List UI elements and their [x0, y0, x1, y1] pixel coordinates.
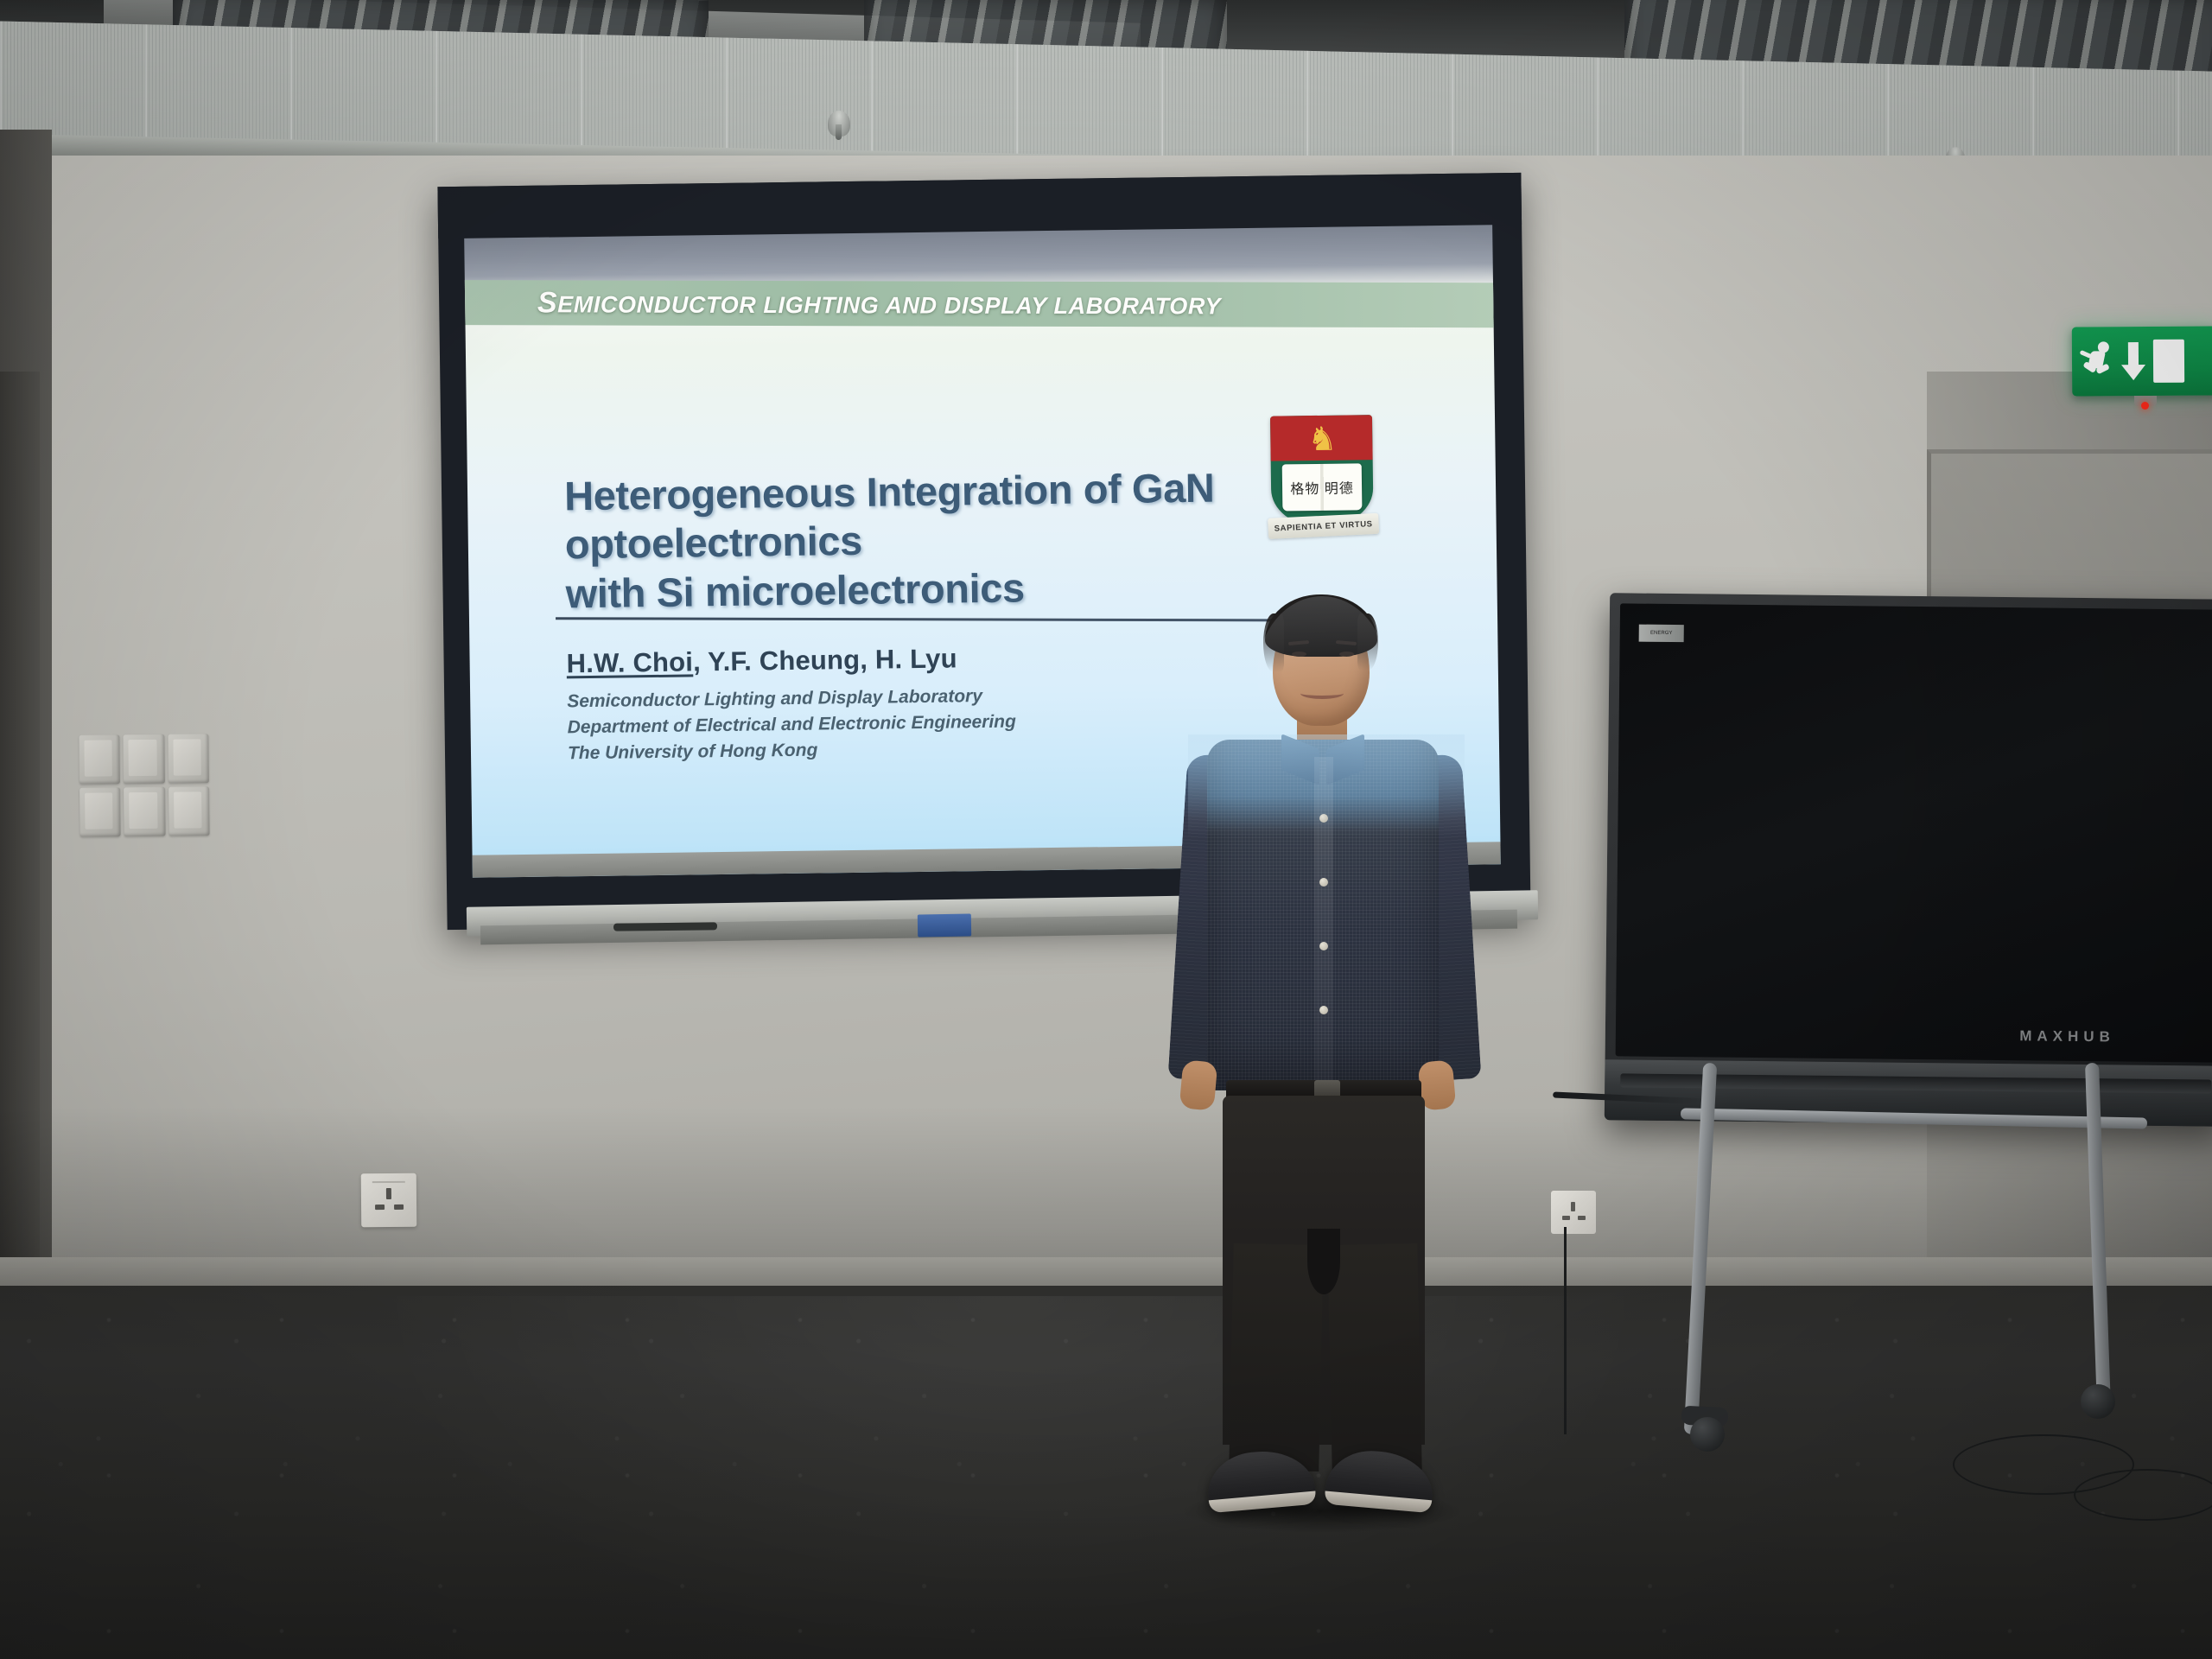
person-leg — [1327, 1243, 1421, 1471]
person-eye — [1339, 652, 1354, 657]
hku-crest-logo: ♞ 格物 明德 SAPIENTIA ET VIRTUS — [1270, 415, 1377, 548]
slide-presenting-author: H.W. Choi — [566, 646, 693, 678]
person-smile — [1300, 688, 1344, 699]
power-socket[interactable] — [361, 1173, 417, 1228]
crest-motto-scroll: SAPIENTIA ET VIRTUS — [1268, 513, 1379, 539]
ceiling — [0, 0, 2212, 173]
trouser-inseam — [1307, 1229, 1340, 1294]
socket-earth-pin — [386, 1188, 391, 1199]
power-socket[interactable] — [1551, 1191, 1596, 1234]
shirt-button — [1319, 1006, 1328, 1014]
socket-live-pin — [375, 1205, 385, 1210]
socket-earth-pin — [1571, 1202, 1575, 1211]
display-screen[interactable]: ENERGY — [1616, 603, 2212, 1062]
light-switch[interactable] — [168, 786, 210, 836]
slide-affiliation: Semiconductor Lighting and Display Labor… — [567, 683, 1016, 766]
exit-sign-indicator-led — [2141, 402, 2149, 410]
baseboard — [0, 1257, 2212, 1288]
slide-coauthors: , Y.F. Cheung, H. Lyu — [693, 643, 957, 677]
socket-neutral-pin — [1578, 1216, 1586, 1220]
sprinkler-icon — [828, 111, 850, 137]
whiteboard-eraser[interactable] — [918, 914, 971, 938]
emergency-exit-sign — [2072, 326, 2212, 396]
slide-banner-text: Semiconductor Lighting and Display Labor… — [537, 286, 1221, 321]
light-switch[interactable] — [79, 787, 121, 836]
slide-title-line-1: Heterogeneous Integration of GaN optoele… — [564, 462, 1343, 570]
light-switch[interactable] — [79, 734, 120, 784]
running-person-icon — [2082, 341, 2113, 381]
stand-caster-wheel — [2081, 1384, 2115, 1419]
maxhub-brand-label: MAXHUB — [2019, 1027, 2115, 1046]
affiliation-line-3: The University of Hong Kong — [568, 734, 1017, 766]
power-cable — [2074, 1469, 2212, 1521]
energy-label-sticker: ENERGY — [1639, 625, 1684, 643]
person-hair-side — [1357, 613, 1378, 671]
person-hair-side — [1263, 613, 1284, 672]
socket-slot — [372, 1181, 405, 1183]
presenter-person — [1162, 588, 1482, 1529]
door-icon — [2153, 340, 2184, 383]
maxhub-interactive-display[interactable]: ENERGY MAXHUB — [1605, 593, 2212, 1127]
crest-shield: ♞ 格物 明德 — [1270, 415, 1374, 527]
light-switch[interactable] — [124, 734, 165, 784]
stand-caster-wheel — [1690, 1417, 1725, 1452]
whiteboard-marker[interactable] — [613, 922, 717, 931]
light-switch-panel[interactable] — [79, 734, 209, 837]
slide-authors: H.W. Choi, Y.F. Cheung, H. Lyu — [566, 643, 957, 679]
open-book-icon: 格物 明德 — [1282, 463, 1363, 511]
lecture-room-scene: Semiconductor Lighting and Display Labor… — [0, 0, 2212, 1659]
light-switch[interactable] — [168, 734, 209, 783]
power-cable — [1564, 1227, 1571, 1434]
shirt-button — [1319, 942, 1328, 950]
person-eye — [1292, 652, 1306, 657]
down-arrow-icon — [2120, 340, 2146, 382]
person-left-hand — [1179, 1059, 1218, 1110]
slide-banner: Semiconductor Lighting and Display Labor… — [464, 280, 1501, 327]
shirt-placket — [1314, 757, 1333, 1089]
lion-icon: ♞ — [1286, 422, 1359, 457]
shirt-button — [1319, 878, 1328, 887]
light-switch[interactable] — [124, 787, 165, 836]
socket-live-pin — [1562, 1216, 1570, 1220]
shirt-button — [1319, 814, 1328, 823]
socket-neutral-pin — [394, 1205, 404, 1210]
